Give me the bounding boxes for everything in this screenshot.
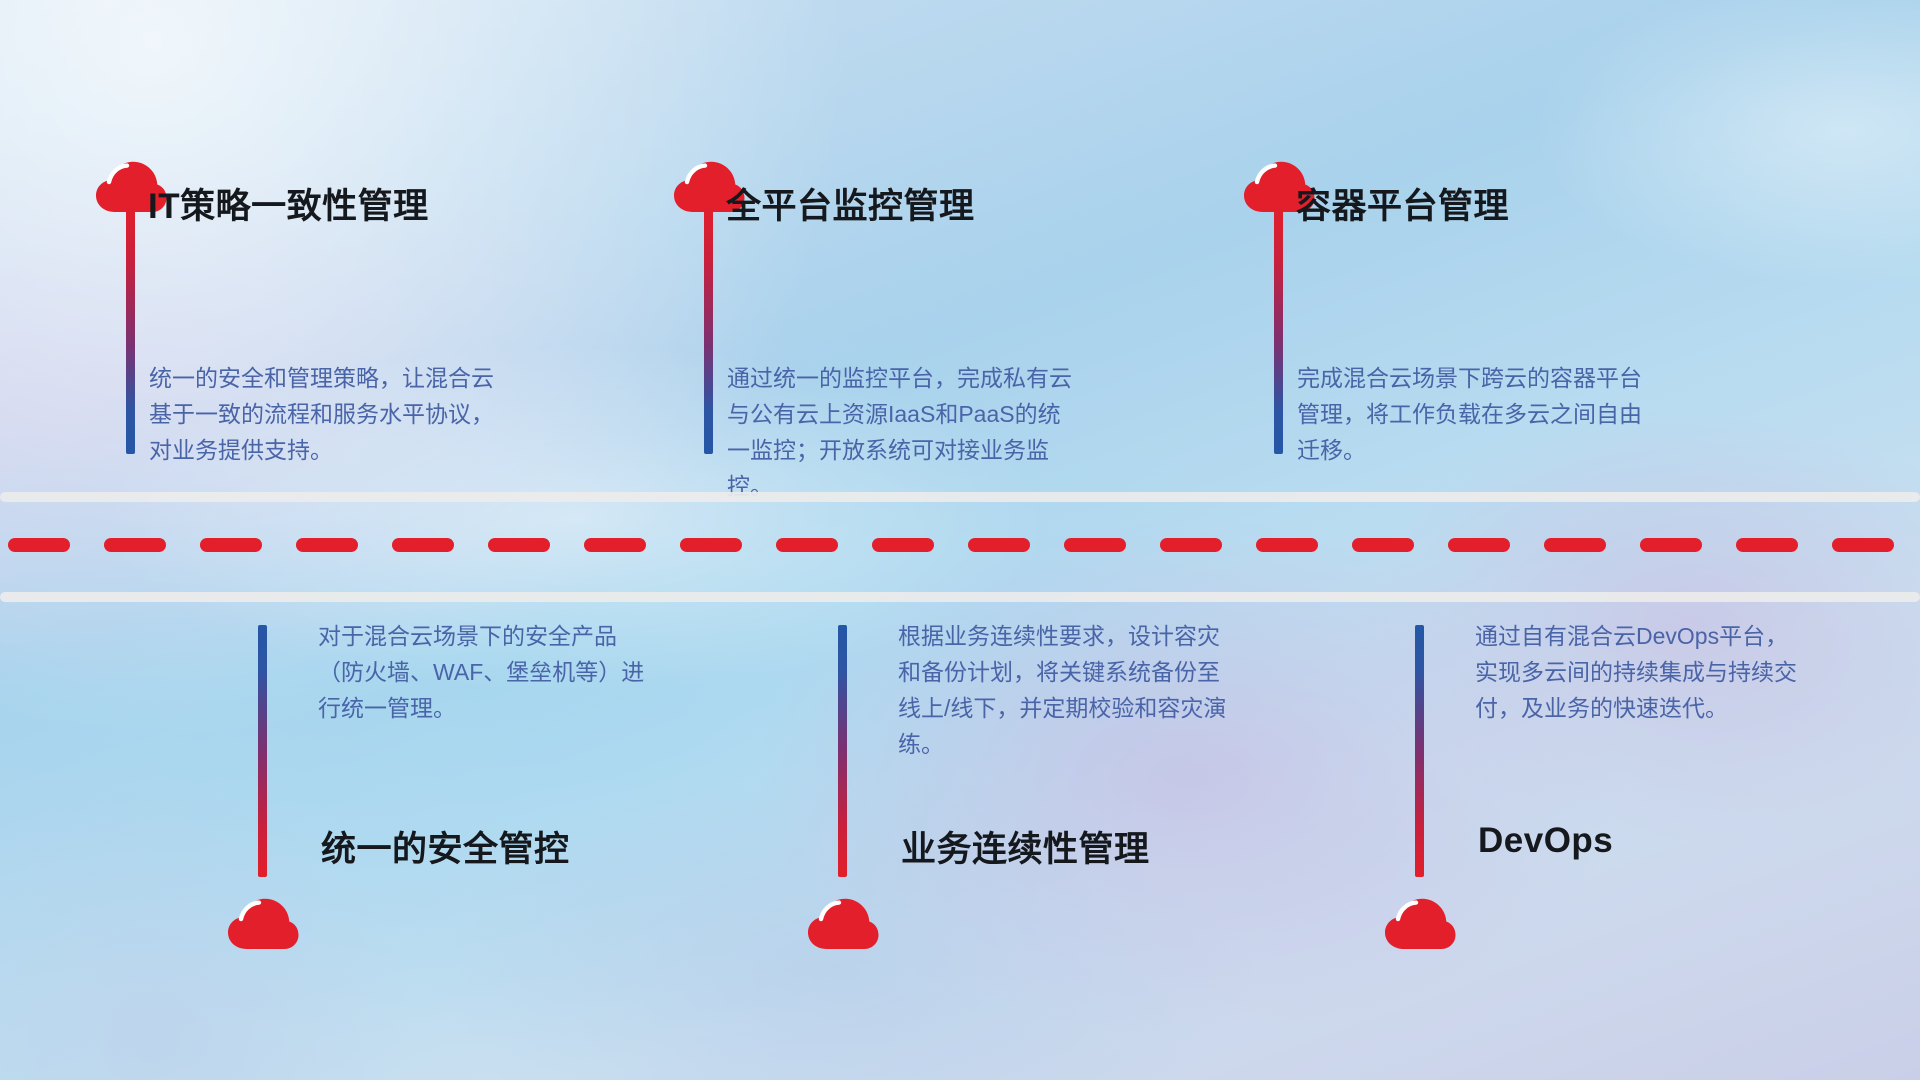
top-item-3-title: 容器平台管理 — [1296, 178, 1509, 229]
connector-stem — [126, 206, 135, 454]
top-item-2-description: 通过统一的监控平台，完成私有云与公有云上资源IaaS和PaaS的统一监控；开放系… — [727, 360, 1079, 504]
bottom-item-2-description: 根据业务连续性要求，设计容灾和备份计划，将关键系统备份至线上/线下，并定期校验和… — [898, 618, 1228, 762]
dash-segment — [200, 538, 262, 552]
cloud-icon — [227, 897, 299, 951]
top-item-2-title: 全平台监控管理 — [726, 178, 975, 229]
dash-segment — [776, 538, 838, 552]
dash-segment — [1736, 538, 1798, 552]
dash-segment — [296, 538, 358, 552]
bottom-item-3-title: DevOps — [1478, 821, 1613, 861]
divider-dashed-line — [0, 538, 1920, 552]
dash-segment — [1160, 538, 1222, 552]
dash-segment — [1064, 538, 1126, 552]
dash-segment — [8, 538, 70, 552]
dash-segment — [488, 538, 550, 552]
dash-segment — [1352, 538, 1414, 552]
bottom-item-2-title: 业务连续性管理 — [901, 821, 1150, 872]
top-item-3-description: 完成混合云场景下跨云的容器平台管理，将工作负载在多云之间自由迁移。 — [1297, 360, 1649, 468]
top-item-1-description: 统一的安全和管理策略，让混合云基于一致的流程和服务水平协议，对业务提供支持。 — [149, 360, 501, 468]
connector-stem — [838, 625, 847, 877]
dash-segment — [872, 538, 934, 552]
infographic-canvas: IT策略一致性管理 统一的安全和管理策略，让混合云基于一致的流程和服务水平协议，… — [0, 0, 1920, 1080]
dash-segment — [1544, 538, 1606, 552]
dash-segment — [968, 538, 1030, 552]
dash-segment — [1640, 538, 1702, 552]
bottom-item-1-description: 对于混合云场景下的安全产品（防火墙、WAF、堡垒机等）进行统一管理。 — [318, 618, 648, 726]
divider-line-top — [0, 492, 1920, 502]
cloud-icon — [807, 897, 879, 951]
bottom-item-3-description: 通过自有混合云DevOps平台，实现多云间的持续集成与持续交付，及业务的快速迭代… — [1475, 618, 1805, 726]
top-item-1-title: IT策略一致性管理 — [148, 178, 429, 229]
connector-stem — [258, 625, 267, 877]
connector-stem — [704, 206, 713, 454]
cloud-icon — [1384, 897, 1456, 951]
divider-line-bottom — [0, 592, 1920, 602]
dash-segment — [1832, 538, 1894, 552]
dash-segment — [392, 538, 454, 552]
connector-stem — [1274, 206, 1283, 454]
connector-stem — [1415, 625, 1424, 877]
bottom-item-1-title: 统一的安全管控 — [321, 821, 570, 872]
dash-segment — [104, 538, 166, 552]
dash-segment — [584, 538, 646, 552]
dash-segment — [1448, 538, 1510, 552]
dash-segment — [680, 538, 742, 552]
dash-segment — [1256, 538, 1318, 552]
